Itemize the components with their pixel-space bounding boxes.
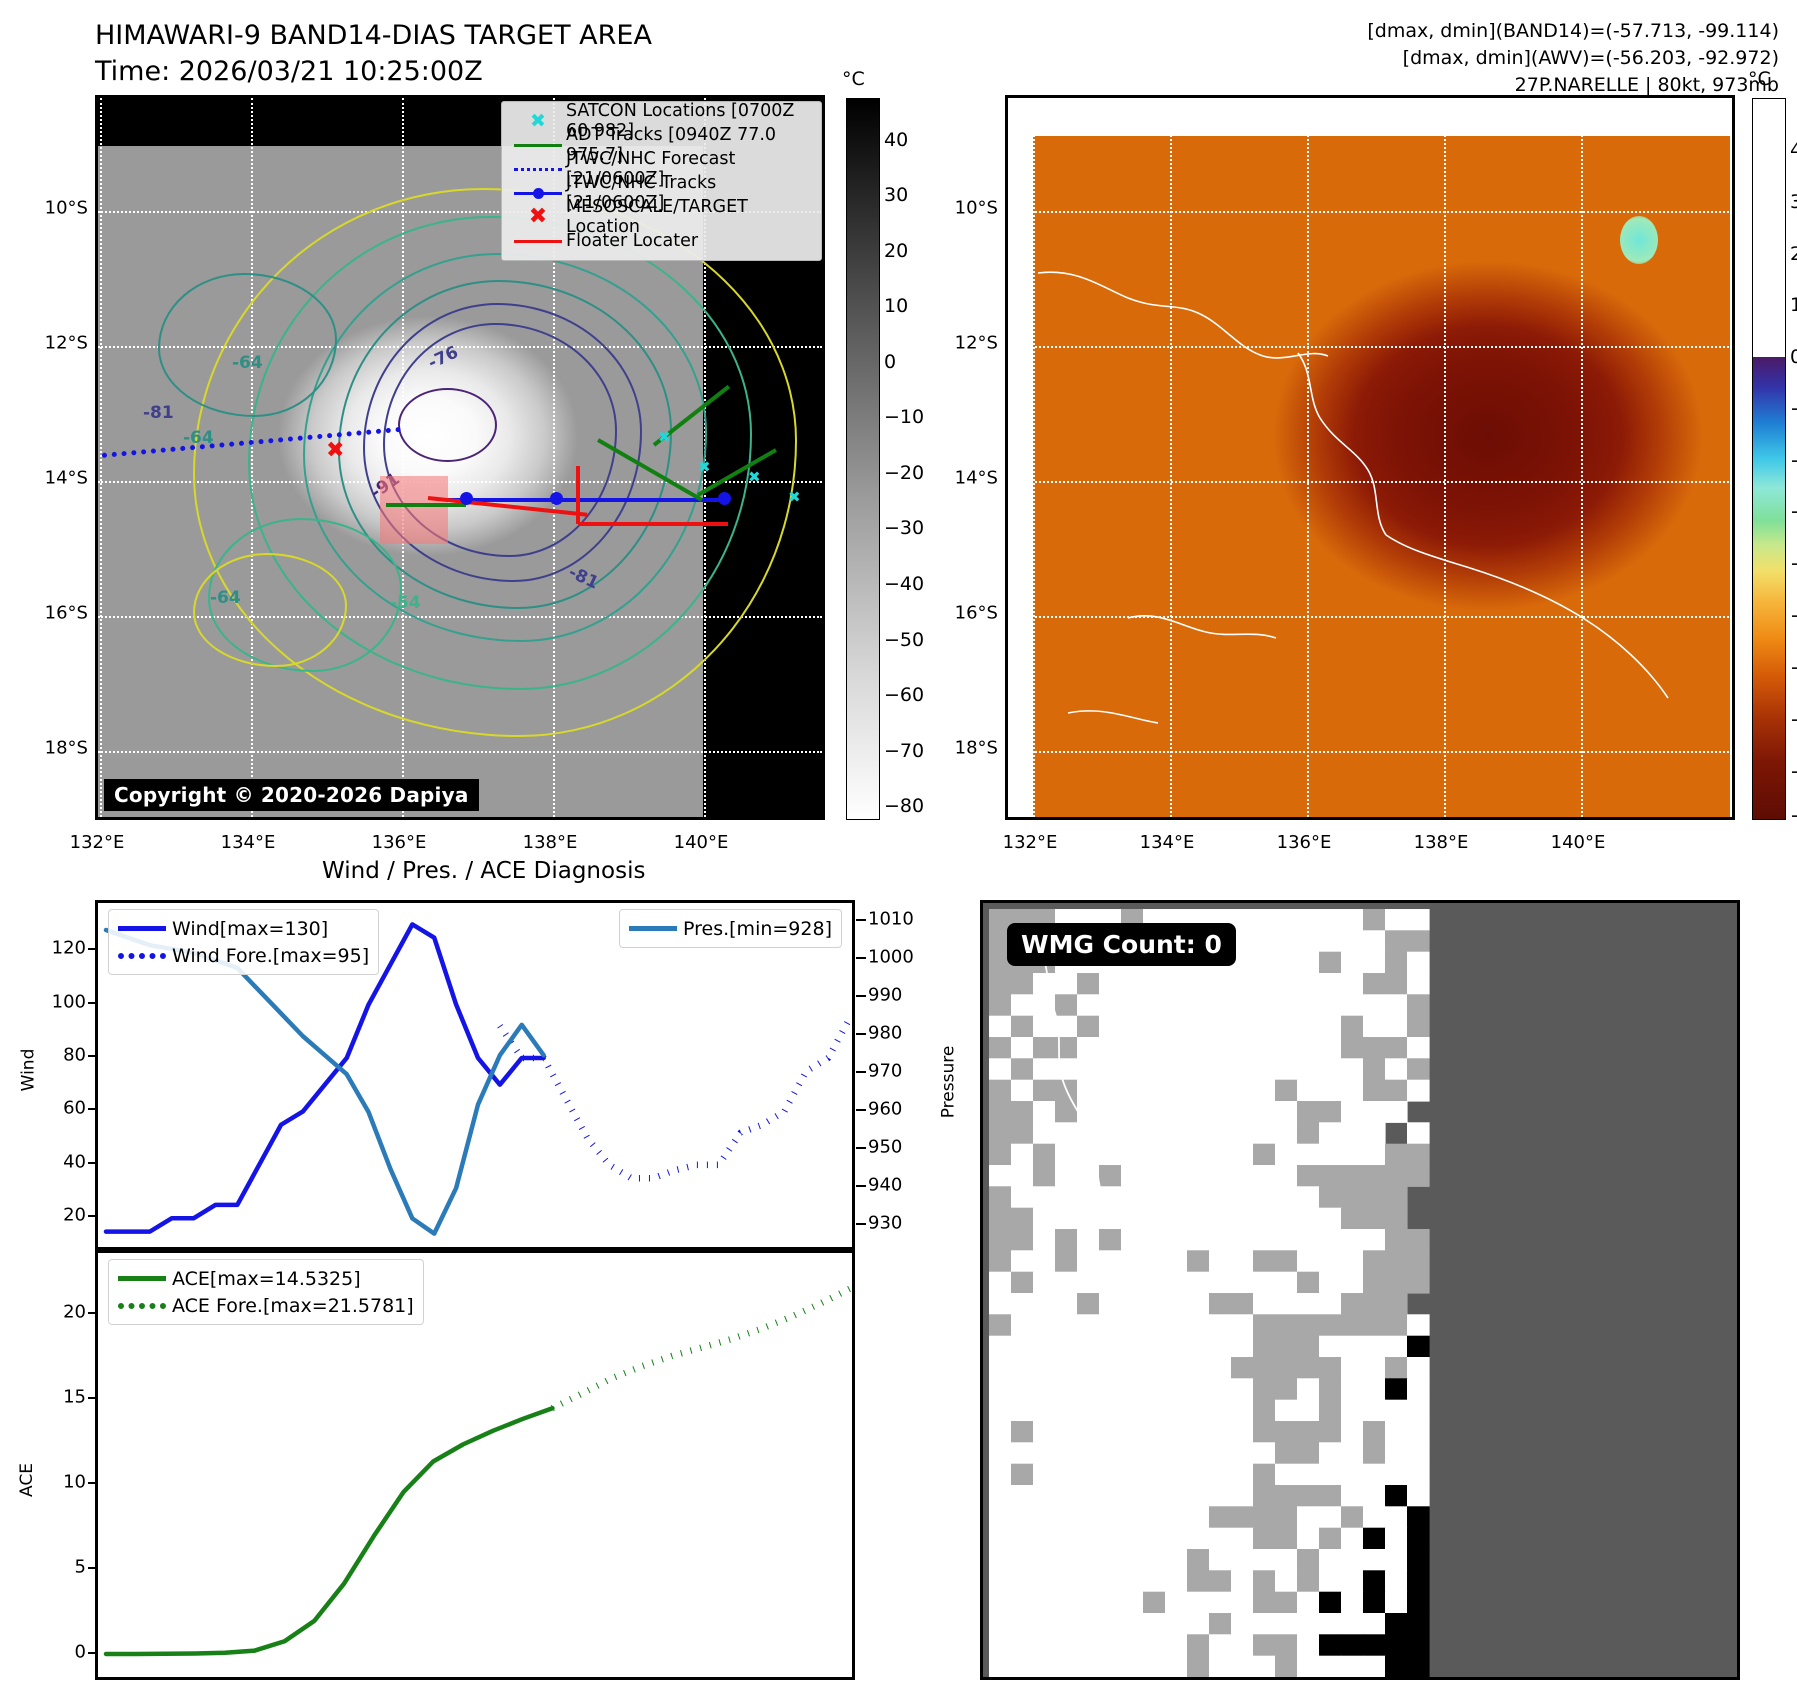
wmg-cell	[1099, 1528, 1122, 1550]
wmg-cell	[1209, 1336, 1232, 1358]
pressure-y-tick: 1010	[868, 909, 930, 930]
wmg-cell	[1385, 1229, 1408, 1251]
wmg-cell	[1297, 1016, 1320, 1038]
wind-legend[interactable]: Wind[max=130] Wind Fore.[max=95]	[108, 909, 379, 975]
wmg-cell	[1121, 1122, 1144, 1144]
wmg-cell	[1033, 1122, 1056, 1144]
pressure-y-tick: 960	[868, 1099, 930, 1120]
contour-ring	[193, 553, 347, 667]
wmg-cell	[1187, 994, 1210, 1016]
wmg-cell	[1033, 1101, 1056, 1123]
wmg-cell	[1011, 1357, 1034, 1379]
wmg-cell	[1385, 1549, 1408, 1571]
wmg-cell	[989, 1144, 1012, 1166]
wmg-cell	[1187, 1570, 1210, 1592]
wmg-cell	[1253, 1058, 1276, 1080]
awv-lat-tick: 14°S	[930, 468, 998, 489]
wmg-cell	[1187, 1101, 1210, 1123]
wmg-cell	[989, 1442, 1012, 1464]
wmg-cell	[989, 1122, 1012, 1144]
wmg-cell	[1011, 1442, 1034, 1464]
wmg-cell	[1055, 1634, 1078, 1656]
wmg-cell	[1363, 1634, 1386, 1656]
wmg-cell	[989, 1400, 1012, 1422]
wmg-cell	[1407, 1080, 1430, 1102]
wmg-cell	[1055, 1506, 1078, 1528]
wmg-cell	[1319, 1101, 1342, 1123]
colorbar-tick: 40	[1790, 139, 1797, 161]
wmg-cell	[1143, 1122, 1166, 1144]
floater-locater-line	[578, 522, 728, 526]
wmg-cell	[1253, 1208, 1276, 1230]
wmg-cell	[1209, 1037, 1232, 1059]
wmg-cell	[1121, 1314, 1144, 1336]
wmg-cell	[1077, 1400, 1100, 1422]
wmg-panel[interactable]: WMG Count: 0	[980, 900, 1740, 1680]
wmg-cell	[1297, 1549, 1320, 1571]
wmg-cell	[1209, 1058, 1232, 1080]
tick-mark	[88, 1108, 98, 1110]
wmg-cell	[1187, 1336, 1210, 1358]
wmg-cell	[1187, 1378, 1210, 1400]
wmg-cell	[1363, 1528, 1386, 1550]
wmg-cell	[1055, 1528, 1078, 1550]
band14-legend[interactable]: ✖ SATCON Locations [0700Z 60 982] ADT Tr…	[501, 101, 822, 261]
wmg-cell	[1407, 1528, 1430, 1550]
wmg-cell	[1253, 1592, 1276, 1614]
wmg-cell	[1187, 1656, 1210, 1677]
wmg-cell	[1143, 1058, 1166, 1080]
awv-map-panel[interactable]	[1005, 95, 1735, 820]
colorbar-tick: −80	[1790, 761, 1797, 783]
wmg-cell	[1165, 973, 1188, 995]
wmg-cell	[1011, 1528, 1034, 1550]
wmg-cell	[1341, 1229, 1364, 1251]
wmg-cell	[1275, 909, 1298, 931]
legend-item-wind-forecast[interactable]: Wind Fore.[max=95]	[118, 942, 369, 969]
wmg-cell	[1011, 1101, 1034, 1123]
wmg-cell	[1187, 1186, 1210, 1208]
legend-item-mesoscale[interactable]: ✖ MESOSCALE/TARGET Location	[510, 205, 811, 229]
wmg-cell	[1033, 1442, 1056, 1464]
wmg-cell	[1077, 1336, 1100, 1358]
wmg-cell	[1297, 1592, 1320, 1614]
legend-item-ace-forecast[interactable]: ACE Fore.[max=21.5781]	[118, 1292, 414, 1319]
colorbar-tick: −30	[1790, 501, 1797, 523]
wmg-cell	[1099, 1016, 1122, 1038]
wmg-cell	[1407, 1058, 1430, 1080]
wmg-cell	[1187, 1250, 1210, 1272]
wmg-cell	[1341, 1464, 1364, 1486]
wmg-cell	[1187, 1421, 1210, 1443]
wmg-cell	[1165, 1250, 1188, 1272]
wmg-cell	[1297, 1336, 1320, 1358]
wmg-cell	[1407, 1314, 1430, 1336]
colorbar-tick: −50	[884, 629, 924, 651]
colorbar-gradient	[846, 98, 880, 820]
wmg-cell	[1209, 1613, 1232, 1635]
wmg-cell	[1385, 1016, 1408, 1038]
wmg-cell	[1363, 1122, 1386, 1144]
wmg-cell	[1275, 1208, 1298, 1230]
wmg-cell	[1385, 1442, 1408, 1464]
wmg-cell	[989, 1165, 1012, 1187]
wmg-cell	[1275, 1101, 1298, 1123]
wmg-cell	[1187, 1442, 1210, 1464]
jtwc-track-line	[448, 498, 728, 502]
wmg-cell	[1011, 1656, 1034, 1677]
wmg-cell	[1275, 1357, 1298, 1379]
ace-chart[interactable]: ACE[max=14.5325] ACE Fore.[max=21.5781]	[95, 1250, 855, 1680]
wmg-cell	[1297, 952, 1320, 974]
wmg-cell	[1055, 1122, 1078, 1144]
awv-lat-tick: 10°S	[930, 198, 998, 219]
wmg-cell	[1253, 1122, 1276, 1144]
wmg-cell	[1341, 1272, 1364, 1294]
wmg-cell	[1099, 1272, 1122, 1294]
colorbar-tick: 20	[1790, 243, 1797, 265]
line-icon	[629, 926, 683, 931]
wmg-cell	[1121, 973, 1144, 995]
wmg-cell	[1319, 1634, 1342, 1656]
wmg-cell	[1407, 952, 1430, 974]
wmg-cell	[1319, 952, 1342, 974]
wmg-cell	[1033, 1016, 1056, 1038]
wmg-cell	[1385, 1421, 1408, 1443]
wmg-cell	[1121, 1186, 1144, 1208]
wmg-cell	[1341, 1549, 1364, 1571]
wmg-cell	[1253, 1037, 1276, 1059]
wmg-cell	[1077, 1058, 1100, 1080]
wmg-cell	[1121, 1613, 1144, 1635]
wmg-cell	[1275, 1613, 1298, 1635]
colorbar-tick: 10	[1790, 294, 1797, 316]
wmg-cell	[1231, 973, 1254, 995]
wmg-cell	[989, 1634, 1012, 1656]
wmg-cell	[1187, 1272, 1210, 1294]
wmg-cell	[1253, 1165, 1276, 1187]
wmg-cell	[1275, 1250, 1298, 1272]
wmg-cell	[1011, 1421, 1034, 1443]
wmg-cell	[1011, 1378, 1034, 1400]
wmg-cell	[1363, 1058, 1386, 1080]
wmg-cell	[1385, 1570, 1408, 1592]
wmg-cell	[1143, 1336, 1166, 1358]
pressure-legend[interactable]: Pres.[min=928]	[619, 909, 842, 948]
wmg-count-badge: WMG Count: 0	[1007, 923, 1236, 966]
wmg-cell	[1275, 1016, 1298, 1038]
wmg-cell	[1319, 1037, 1342, 1059]
wmg-cell	[1033, 1186, 1056, 1208]
wmg-cell	[1407, 1122, 1430, 1144]
band14-lat-tick: 18°S	[20, 738, 88, 759]
tick-mark	[88, 1002, 98, 1004]
wmg-cell	[1143, 1229, 1166, 1251]
wmg-cell	[1011, 1634, 1034, 1656]
line-icon	[118, 1276, 172, 1281]
wmg-cell	[1077, 1592, 1100, 1614]
wmg-cell	[1143, 1421, 1166, 1443]
wmg-cell	[1143, 1165, 1166, 1187]
wmg-cell	[1319, 1570, 1342, 1592]
wmg-cell	[1033, 1656, 1056, 1677]
ace-legend[interactable]: ACE[max=14.5325] ACE Fore.[max=21.5781]	[108, 1259, 424, 1325]
ace-y-tick: 10	[30, 1472, 86, 1493]
band14-map-panel[interactable]: -64 -64 -81 -64 -76 -91 -81 -54 ✖ ✖ ✖ ✖ …	[95, 95, 825, 820]
wmg-cell	[1253, 1485, 1276, 1507]
wmg-cell	[1033, 1464, 1056, 1486]
wmg-cell	[1055, 1357, 1078, 1379]
wmg-cell	[1033, 1165, 1056, 1187]
wmg-cell	[1297, 1378, 1320, 1400]
wmg-cell	[989, 1549, 1012, 1571]
wmg-cell	[1363, 909, 1386, 931]
wmg-cell	[1385, 1378, 1408, 1400]
wmg-cell	[1187, 1037, 1210, 1059]
wmg-cell	[1187, 1357, 1210, 1379]
awv-lon-tick: 138°E	[1414, 832, 1469, 853]
band14-lat-tick: 10°S	[20, 198, 88, 219]
wmg-cell	[1231, 1122, 1254, 1144]
wmg-cell	[1011, 1293, 1034, 1315]
wmg-cell	[1165, 1656, 1188, 1677]
wmg-cell	[1319, 1464, 1342, 1486]
wmg-cell	[1099, 973, 1122, 995]
colorbar-ticks: 40 30 20 10 0 −10 −20 −30 −40 −50 −60 −7…	[1790, 98, 1797, 820]
wmg-cell	[1341, 1016, 1364, 1038]
wmg-cell	[1165, 1421, 1188, 1443]
wmg-cell	[1407, 1250, 1430, 1272]
wmg-cell	[1165, 1570, 1188, 1592]
wmg-cell	[1209, 1101, 1232, 1123]
wmg-cell	[1099, 1293, 1122, 1315]
wmg-cell	[1297, 1314, 1320, 1336]
ace-y-tick: 5	[30, 1556, 86, 1577]
band14-lon-tick: 132°E	[70, 832, 125, 853]
wmg-cell	[1209, 1272, 1232, 1294]
wmg-cell	[1275, 1186, 1298, 1208]
wmg-cell	[1055, 994, 1078, 1016]
wmg-cell	[1319, 1549, 1342, 1571]
wmg-cell	[1341, 1506, 1364, 1528]
wmg-cell	[1077, 1570, 1100, 1592]
wmg-cell	[1231, 1378, 1254, 1400]
wmg-cell	[1011, 1165, 1034, 1187]
wmg-cell	[1033, 1485, 1056, 1507]
metadata-block: [dmax, dmin](BAND14)=(-57.713, -99.114) …	[1367, 18, 1779, 99]
wmg-cell	[1385, 1634, 1408, 1656]
wmg-cell	[1077, 1101, 1100, 1123]
wmg-cell	[1033, 1272, 1056, 1294]
wmg-cell	[1363, 973, 1386, 995]
wmg-cell	[1143, 1016, 1166, 1038]
wmg-cell	[1341, 1101, 1364, 1123]
wmg-cell	[1319, 1336, 1342, 1358]
wmg-cell	[1407, 1464, 1430, 1486]
wmg-cell	[1407, 1592, 1430, 1614]
wmg-cell	[1297, 973, 1320, 995]
wmg-cell	[1297, 1485, 1320, 1507]
wmg-cell	[1363, 1613, 1386, 1635]
wmg-cell	[1055, 1549, 1078, 1571]
wmg-cell	[1253, 1634, 1276, 1656]
wmg-cell	[1165, 1357, 1188, 1379]
wmg-cell	[1319, 973, 1342, 995]
tick-mark	[856, 1223, 866, 1225]
wmg-cell	[1165, 1485, 1188, 1507]
wmg-cell	[1275, 994, 1298, 1016]
wmg-cell	[1055, 1250, 1078, 1272]
wmg-cell	[1297, 1570, 1320, 1592]
wmg-cell	[1407, 1421, 1430, 1443]
wmg-cell	[1209, 1485, 1232, 1507]
legend-label: Pres.[min=928]	[683, 918, 832, 940]
wmg-cell	[1297, 994, 1320, 1016]
wmg-cell	[1121, 1357, 1144, 1379]
wmg-cell	[1143, 1528, 1166, 1550]
line-with-dot-icon	[510, 192, 566, 195]
wmg-cell	[1165, 1400, 1188, 1422]
wind-pressure-chart[interactable]: Wind[max=130] Wind Fore.[max=95] Pres.[m…	[95, 900, 855, 1250]
diagnosis-title: Wind / Pres. / ACE Diagnosis	[322, 858, 645, 884]
awv-lon-tick: 140°E	[1551, 832, 1606, 853]
pressure-y-tick: 930	[868, 1213, 930, 1234]
colorbar-tick: −20	[1790, 450, 1797, 472]
wmg-cell	[1011, 1144, 1034, 1166]
wmg-cell	[1385, 1250, 1408, 1272]
pressure-y-tick: 970	[868, 1061, 930, 1082]
wmg-cell	[1187, 1485, 1210, 1507]
wmg-cell	[1253, 1464, 1276, 1486]
wmg-cell	[1165, 1272, 1188, 1294]
wmg-cell	[1165, 1229, 1188, 1251]
wmg-cell	[1121, 1528, 1144, 1550]
tick-mark	[88, 1482, 98, 1484]
wmg-cell	[1341, 952, 1364, 974]
wmg-cell	[1385, 1293, 1408, 1315]
wmg-cell	[1165, 1293, 1188, 1315]
wmg-cell	[1363, 1506, 1386, 1528]
wmg-cell	[1341, 1314, 1364, 1336]
wmg-cell	[1253, 1549, 1276, 1571]
wmg-cell	[1385, 1101, 1408, 1123]
wmg-cell	[1363, 1400, 1386, 1422]
wmg-cell	[1319, 1378, 1342, 1400]
legend-item-ace[interactable]: ACE[max=14.5325]	[118, 1265, 414, 1292]
wmg-cell	[1209, 973, 1232, 995]
wmg-cell	[1231, 1229, 1254, 1251]
legend-label: Wind Fore.[max=95]	[172, 945, 369, 967]
colorbar-gradient	[1752, 98, 1786, 820]
wmg-cell	[1319, 1058, 1342, 1080]
wmg-cell	[1187, 1293, 1210, 1315]
wmg-cell	[1341, 1656, 1364, 1677]
wmg-cell	[1407, 973, 1430, 995]
wmg-cell	[1363, 1336, 1386, 1358]
wmg-cell	[1231, 1165, 1254, 1187]
wmg-cell	[1011, 973, 1034, 995]
wmg-cell	[1143, 1144, 1166, 1166]
colorbar-tick: 30	[1790, 191, 1797, 213]
wmg-cell	[1407, 1613, 1430, 1635]
wmg-cell	[1341, 973, 1364, 995]
wmg-cell	[1231, 1186, 1254, 1208]
colorbar-unit-label: °C	[842, 68, 865, 90]
wmg-cell	[1121, 994, 1144, 1016]
wmg-cell	[1275, 1080, 1298, 1102]
wmg-cell	[1055, 1293, 1078, 1315]
wmg-cell	[1209, 1186, 1232, 1208]
wmg-cell	[1077, 1186, 1100, 1208]
colorbar-tick: −30	[884, 517, 924, 539]
awv-lon-tick: 134°E	[1140, 832, 1195, 853]
wmg-cell	[1297, 1634, 1320, 1656]
wmg-cell	[1363, 1421, 1386, 1443]
wmg-cell	[1341, 909, 1364, 931]
pressure-y-tick: 950	[868, 1137, 930, 1158]
wmg-cell	[1407, 1634, 1430, 1656]
dotted-line-icon	[118, 953, 172, 959]
wmg-cell	[1231, 1144, 1254, 1166]
wmg-cell	[1341, 1058, 1364, 1080]
colorbar-tick: 0	[884, 351, 896, 373]
legend-item-pressure[interactable]: Pres.[min=928]	[629, 915, 832, 942]
tick-mark	[88, 948, 98, 950]
wmg-cell	[1407, 1378, 1430, 1400]
colorbar-tick: −60	[1790, 657, 1797, 679]
wmg-cell	[1209, 1016, 1232, 1038]
wmg-cell	[1165, 1165, 1188, 1187]
wmg-cell	[1341, 1250, 1364, 1272]
wmg-cell	[1187, 1016, 1210, 1038]
wmg-cell	[1055, 1656, 1078, 1677]
wmg-cell	[1275, 1528, 1298, 1550]
wmg-cell	[1407, 1570, 1430, 1592]
wmg-cell	[989, 1485, 1012, 1507]
wmg-cell	[1143, 1186, 1166, 1208]
wmg-cell	[1407, 1165, 1430, 1187]
wmg-cell	[1341, 1592, 1364, 1614]
wmg-cell	[1253, 952, 1276, 974]
awv-lat-tick: 12°S	[930, 333, 998, 354]
wmg-cell	[1099, 1314, 1122, 1336]
wmg-cell	[1187, 1464, 1210, 1486]
wmg-cell	[1253, 1528, 1276, 1550]
wmg-cell	[1165, 1378, 1188, 1400]
wmg-cell	[1077, 1314, 1100, 1336]
wmg-cell	[1231, 1592, 1254, 1614]
wmg-cell	[1099, 1400, 1122, 1422]
legend-item-wind[interactable]: Wind[max=130]	[118, 915, 369, 942]
wmg-cell	[1253, 1570, 1276, 1592]
wmg-cell	[1275, 1442, 1298, 1464]
wmg-cell	[1099, 1656, 1122, 1677]
wmg-cell	[989, 1464, 1012, 1486]
wmg-cell	[1143, 1314, 1166, 1336]
wmg-cell	[1165, 1314, 1188, 1336]
wmg-cell	[1385, 973, 1408, 995]
wmg-cell	[1363, 1101, 1386, 1123]
wmg-cell	[1253, 994, 1276, 1016]
wmg-cell	[1121, 1442, 1144, 1464]
wmg-cell	[1385, 1528, 1408, 1550]
wmg-cell	[1077, 1421, 1100, 1443]
wmg-cell	[1319, 1400, 1342, 1422]
wmg-cell	[1363, 1272, 1386, 1294]
wmg-cell	[1363, 994, 1386, 1016]
wmg-cell	[1099, 1336, 1122, 1358]
colorbar-tick: −80	[884, 795, 924, 817]
